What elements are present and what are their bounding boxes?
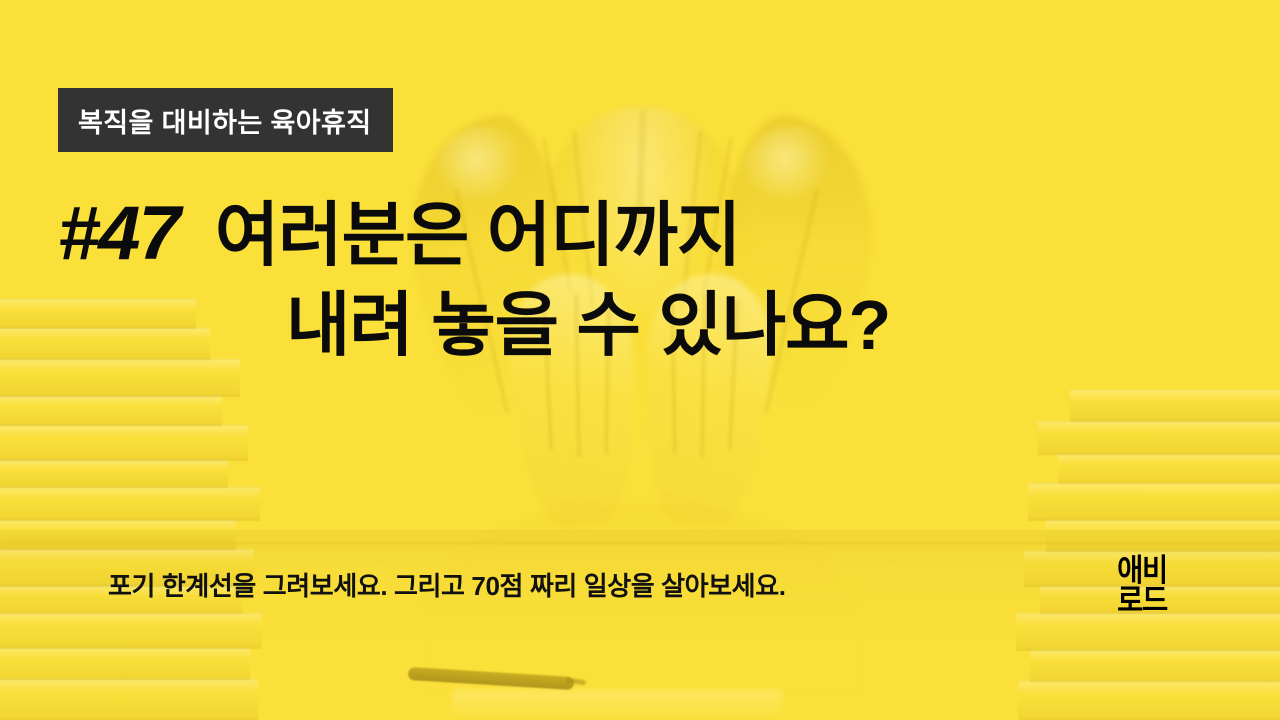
headline-line-1: 여러분은 어디까지: [215, 198, 741, 274]
headline-block: #47 여러분은 어디까지 내려 놓을 수 있나요?: [58, 196, 1098, 363]
headline-line-2: 내려 놓을 수 있나요?: [286, 288, 890, 364]
series-badge: 복직을 대비하는 육아휴직: [58, 88, 393, 152]
poster-canvas: 복직을 대비하는 육아휴직 #47 여러분은 어디까지 내려 놓을 수 있나요?…: [0, 0, 1280, 720]
brand-logo: 애비 로드: [1109, 556, 1175, 617]
issue-number: #47: [58, 196, 179, 272]
headline-row-first: #47 여러분은 어디까지: [58, 196, 1098, 274]
series-badge-label: 복직을 대비하는 육아휴직: [78, 101, 371, 140]
headline-row-second: 내려 놓을 수 있나요?: [58, 288, 1098, 364]
brand-logo-line-2: 로드: [1109, 586, 1175, 616]
poster-content: 복직을 대비하는 육아휴직 #47 여러분은 어디까지 내려 놓을 수 있나요?…: [0, 0, 1280, 720]
caption-text: 포기 한계선을 그려보세요. 그리고 70점 짜리 일상을 살아보세요.: [108, 566, 786, 603]
brand-logo-line-1: 애비: [1109, 556, 1175, 586]
